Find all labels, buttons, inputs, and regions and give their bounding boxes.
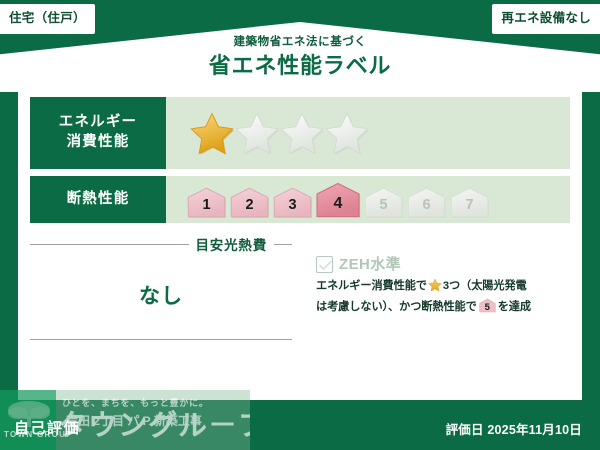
badge-building-type: 住宅（住戸） bbox=[0, 4, 95, 34]
insulation-level-number: 6 bbox=[422, 198, 430, 219]
star-rating bbox=[190, 111, 369, 155]
insulation-performance-row: 断熱性能 1234567 bbox=[30, 176, 570, 223]
star-icon-filled bbox=[190, 111, 234, 155]
insulation-level-5: 5 bbox=[363, 186, 404, 219]
zeh-checkbox[interactable] bbox=[316, 256, 333, 273]
star-icon-empty bbox=[235, 111, 279, 155]
insulation-level-3: 3 bbox=[272, 186, 313, 219]
insulation-level-number: 1 bbox=[202, 198, 210, 219]
insulation-level-1: 1 bbox=[186, 186, 227, 219]
insulation-level-number: 2 bbox=[245, 198, 253, 219]
zeh-desc-part2: 3つ（太陽光発電 bbox=[443, 280, 527, 292]
footer-evaluation-date: 評価日 2025年11月10日 bbox=[446, 419, 582, 438]
label-card: エネルギー 消費性能 断熱性能 1234567 目安光熱費 bbox=[18, 88, 582, 400]
utility-cost-underline bbox=[30, 339, 292, 340]
star-icon-empty bbox=[280, 111, 324, 155]
zeh-title: ZEH水準 bbox=[339, 257, 401, 272]
energy-performance-label: エネルギー 消費性能 bbox=[30, 97, 166, 169]
insulation-level-scale: 1234567 bbox=[186, 181, 490, 219]
energy-performance-label-line2: 消費性能 bbox=[67, 133, 130, 153]
zeh-desc-part3: は考慮しない）、かつ断熱性能で bbox=[316, 301, 477, 313]
house-icon-inline: 5 bbox=[479, 298, 496, 313]
insulation-level-number: 4 bbox=[334, 196, 343, 219]
label-main-title: 省エネ性能ラベル bbox=[0, 52, 600, 80]
utility-cost-heading: 目安光熱費 bbox=[30, 234, 292, 254]
insulation-level-number: 7 bbox=[465, 198, 473, 219]
insulation-performance-label: 断熱性能 bbox=[30, 176, 166, 223]
zeh-heading: ZEH水準 bbox=[316, 256, 570, 273]
label-subtitle: 建築物省エネ法に基づく bbox=[0, 36, 600, 50]
label-footer: 自己評価 評価日 2025年11月10日 bbox=[0, 400, 600, 450]
badge-renewable-energy: 再エネ設備なし bbox=[492, 4, 600, 34]
star-icon-inline bbox=[428, 278, 442, 298]
energy-performance-label-line1: エネルギー bbox=[59, 113, 138, 133]
insulation-level-6: 6 bbox=[406, 186, 447, 219]
label-bottom-area: 目安光熱費 なし ZEH水準 エネルギー消費性能で3つ（太陽光 bbox=[30, 234, 570, 340]
insulation-level-4: 4 bbox=[315, 181, 361, 219]
heading-rule-right bbox=[274, 244, 292, 245]
zeh-desc-part1: エネルギー消費性能で bbox=[316, 280, 427, 292]
zeh-desc-part4: を達成 bbox=[498, 301, 531, 313]
insulation-performance-value: 1234567 bbox=[166, 176, 570, 223]
utility-cost-heading-text: 目安光熱費 bbox=[196, 234, 268, 254]
utility-cost-value: なし bbox=[30, 254, 292, 310]
check-icon bbox=[319, 260, 332, 271]
insulation-level-2: 2 bbox=[229, 186, 270, 219]
heading-rule-left bbox=[30, 244, 189, 245]
insulation-performance-label-text: 断熱性能 bbox=[67, 190, 130, 210]
zeh-description: エネルギー消費性能で3つ（太陽光発電は考慮しない）、かつ断熱性能で5を達成 bbox=[316, 277, 570, 316]
energy-performance-value bbox=[166, 97, 570, 169]
utility-cost-section: 目安光熱費 なし bbox=[30, 234, 302, 340]
insulation-level-7: 7 bbox=[449, 186, 490, 219]
insulation-level-number: 3 bbox=[288, 198, 296, 219]
label-title-block: 建築物省エネ法に基づく 省エネ性能ラベル bbox=[0, 36, 600, 79]
footer-evaluation-type: 自己評価 bbox=[14, 417, 80, 438]
zeh-section: ZEH水準 エネルギー消費性能で3つ（太陽光発電は考慮しない）、かつ断熱性能で5… bbox=[302, 234, 570, 340]
star-icon-empty bbox=[325, 111, 369, 155]
insulation-level-number: 5 bbox=[379, 198, 387, 219]
energy-saving-label: 住宅（住戸） 再エネ設備なし 建築物省エネ法に基づく 省エネ性能ラベル エネルギ… bbox=[0, 0, 600, 450]
house-icon-number: 5 bbox=[479, 303, 496, 313]
energy-performance-row: エネルギー 消費性能 bbox=[30, 97, 570, 169]
